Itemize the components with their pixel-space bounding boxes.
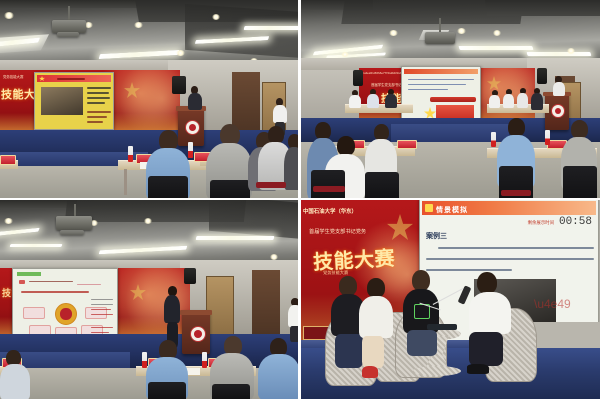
ceiling-beam [485, 0, 600, 16]
party-emblem-icon [487, 76, 501, 90]
projection-screen[interactable] [401, 66, 481, 126]
water-bottle [128, 146, 133, 162]
ceiling-projector [56, 216, 92, 230]
diagram-center-node [55, 303, 77, 325]
participant-3 [403, 270, 439, 362]
projection-screen[interactable] [34, 72, 114, 130]
shoe [362, 366, 378, 378]
judge-person [367, 89, 379, 108]
chair [148, 382, 186, 399]
judge-person [349, 90, 361, 108]
head [339, 276, 357, 296]
backdrop-subtitle: 首届学生党支部书记党务 [309, 228, 366, 235]
torso [503, 94, 514, 108]
ceiling-light [526, 52, 591, 56]
ceiling-spotlight [567, 48, 575, 54]
head [337, 136, 355, 156]
ceiling-spotlight [4, 218, 13, 224]
ceiling-projector [425, 32, 455, 44]
ceiling-spotlight [341, 52, 349, 57]
staff-person [288, 298, 298, 342]
party-emblem-icon [387, 214, 413, 240]
slide-text-line [87, 111, 111, 113]
slide-text-line [408, 79, 474, 80]
slide-text-line [87, 116, 107, 118]
chair-base [501, 190, 531, 196]
torso [469, 292, 511, 334]
chair [563, 166, 597, 198]
audience-person [0, 350, 30, 399]
ceiling-spotlight [457, 28, 466, 34]
chair [148, 176, 188, 198]
university-seal-icon [551, 104, 565, 118]
presenter [164, 286, 180, 348]
name-plate [0, 155, 16, 165]
staff-body [273, 105, 287, 123]
slide-title-line [57, 78, 85, 80]
presenter [188, 86, 202, 110]
torso [517, 93, 528, 108]
torso [284, 147, 298, 190]
ceiling-light [9, 244, 62, 247]
ceiling-beam [185, 4, 298, 58]
slide-header-icon [425, 204, 433, 212]
head [477, 272, 497, 294]
wall-speaker [184, 268, 196, 284]
panel-top-right[interactable]: \u4e2d\u56fd\u77f3\u6cb9\u5927\u5b66 首届学… [301, 0, 600, 198]
shoe [467, 364, 489, 374]
backdrop-subtitle: 党务技能大赛 [3, 74, 23, 79]
torso [489, 95, 500, 108]
slide-body-line [426, 258, 594, 260]
slide-text-line [87, 97, 110, 99]
legs [290, 326, 298, 342]
presenter-body [553, 82, 565, 96]
wall-speaker [172, 76, 186, 94]
timer-label: 剩余展示时间 [528, 220, 554, 226]
slide-header-title: 情景模拟 [436, 205, 468, 215]
diagram-node [23, 307, 45, 319]
name-plate [397, 140, 417, 149]
legs [407, 330, 437, 356]
ceiling-spotlight [212, 14, 220, 20]
judge-person [503, 89, 514, 108]
screen-content [404, 69, 478, 123]
slide-tag [17, 272, 41, 276]
chair-base [313, 186, 345, 192]
ceiling-spotlight [389, 30, 398, 36]
ceiling-light [244, 26, 298, 30]
torso [0, 364, 30, 399]
slide-logo-icon [19, 280, 25, 284]
water-bottle [545, 130, 550, 145]
audience-person [284, 134, 298, 190]
ceiling-light [196, 236, 275, 240]
ceiling-spotlight [4, 12, 14, 19]
participant-4-mic-holder [469, 272, 511, 378]
presenter-body [188, 93, 202, 110]
torso [531, 93, 543, 110]
judge-person [517, 88, 528, 108]
slide-text-line [91, 304, 113, 305]
slide-text-line [408, 89, 448, 90]
chair-base [256, 182, 286, 188]
slide-deco-line [77, 284, 101, 285]
ceiling-spotlight [176, 50, 185, 56]
judge-person [531, 88, 543, 110]
projector-mount [74, 204, 76, 216]
slide-watermark: \u4e49 [534, 297, 571, 311]
projection-screen[interactable] [12, 268, 118, 342]
torso [385, 94, 397, 108]
slide-header [404, 69, 478, 74]
rattan-table-base [413, 366, 461, 376]
chair [365, 172, 399, 198]
slide-body-line [438, 247, 594, 249]
ceiling-spotlight [493, 30, 501, 36]
party-emblem-icon [130, 284, 146, 300]
ceiling-spotlight [134, 22, 143, 28]
screen-content [15, 271, 115, 339]
floor-strip [533, 322, 600, 348]
chair [311, 170, 345, 198]
legs [469, 332, 503, 366]
slide-text-line [91, 299, 113, 300]
photo-collage: 党务技能大赛 技能大赛 [0, 0, 600, 400]
countdown-timer: 00:58 [559, 216, 592, 228]
podium-top [180, 310, 212, 315]
slide-text-line [91, 314, 113, 315]
slide-title-line [21, 291, 89, 293]
door [206, 276, 234, 340]
slide-text-line [91, 327, 113, 328]
judge-person [385, 89, 397, 108]
projector-mount [68, 6, 70, 20]
slide-text-line [91, 309, 111, 310]
presenter-body [164, 295, 180, 323]
screen-content [37, 75, 111, 127]
torso [367, 94, 379, 108]
projector-lens [57, 32, 79, 37]
presenter [553, 76, 565, 96]
slide-photo [41, 87, 83, 115]
slide-text-line [87, 87, 111, 89]
torso [349, 95, 361, 108]
torso [288, 305, 298, 327]
participant-2 [359, 278, 393, 382]
table-leg [124, 169, 127, 195]
slide-text-line [87, 102, 105, 104]
wood-wall-panel [252, 270, 280, 336]
water-bottle [202, 352, 207, 368]
head [367, 278, 385, 298]
party-emblem-icon [124, 82, 140, 98]
projector-lens [60, 230, 84, 235]
wall-speaker [537, 68, 547, 84]
ceiling-spotlight [144, 218, 152, 224]
water-bottle [491, 132, 496, 147]
torso [258, 354, 298, 399]
backdrop-university: 中国石油大学（华东） [303, 207, 357, 215]
chair [212, 384, 250, 399]
wall-speaker [353, 70, 363, 86]
slide-red-bar [430, 97, 476, 102]
university-seal-icon [190, 326, 206, 342]
chair [210, 180, 250, 198]
torso [359, 296, 393, 338]
equipment-on-table [427, 324, 457, 330]
ceiling-beam [0, 0, 155, 8]
slide-text-line [29, 281, 73, 282]
panel-top-left[interactable]: 党务技能大赛 技能大赛 [0, 0, 298, 198]
panel-bottom-right[interactable]: 中国石油大学（华东） 首届学生党支部书记党务 技能大赛 党务技能大赛 情景模拟 … [301, 200, 600, 399]
case-title: 案例三 [426, 231, 447, 241]
legs [362, 336, 384, 368]
ceiling-light [458, 46, 533, 50]
audience-person [258, 338, 298, 399]
slide-text-line [87, 92, 109, 94]
slide-text-line [87, 121, 103, 123]
panel-bottom-left[interactable]: 技能大赛 [0, 200, 298, 399]
judge-person [489, 90, 500, 108]
slide-text-line [408, 84, 466, 85]
slide-text-line [91, 332, 109, 333]
head [412, 270, 430, 291]
